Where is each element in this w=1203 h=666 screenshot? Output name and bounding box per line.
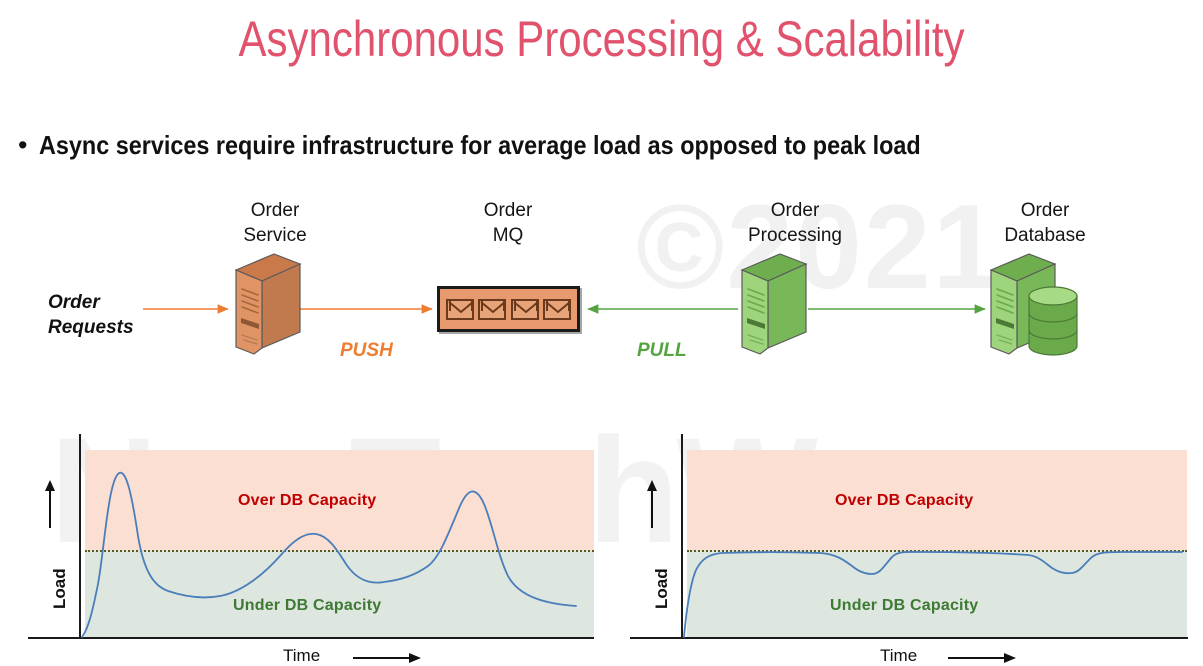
edge-label-pull: PULL (637, 340, 687, 362)
peak-load-chart: Over DB Capacity Under DB Capacity Load … (28, 424, 598, 666)
bullet-text: Async services require infrastructure fo… (39, 128, 921, 162)
bullet-item: • Async services require infrastructure … (18, 128, 1188, 162)
over-capacity-label: Over DB Capacity (835, 492, 973, 510)
database-icon-order-database (983, 246, 1091, 360)
load-curve (630, 424, 1190, 666)
server-tower-icon-order-service (228, 248, 304, 358)
over-capacity-label: Over DB Capacity (238, 492, 376, 510)
x-axis-label: Time (880, 646, 917, 666)
page-title: Asynchronous Processing & Scalability (96, 8, 1107, 70)
y-axis-label: Load (50, 568, 70, 609)
envelope-icon (478, 299, 506, 320)
x-axis-arrow-icon (948, 650, 1018, 666)
bullet-marker: • (18, 128, 27, 162)
edge-label-push: PUSH (340, 340, 393, 362)
architecture-diagram: Order Service Order MQ Order Processing … (0, 190, 1203, 390)
message-queue-icon-order-mq (437, 286, 580, 332)
y-axis-label: Load (652, 568, 672, 609)
x-axis-arrow-icon (353, 650, 423, 666)
smoothed-load-chart: Over DB Capacity Under DB Capacity Load … (630, 424, 1190, 666)
x-axis-label: Time (283, 646, 320, 666)
y-axis-arrow-icon (40, 480, 60, 530)
envelope-icon (446, 299, 474, 320)
under-capacity-label: Under DB Capacity (233, 597, 381, 615)
envelope-icon (511, 299, 539, 320)
envelope-icon (543, 299, 571, 320)
under-capacity-label: Under DB Capacity (830, 597, 978, 615)
server-tower-icon-order-processing (734, 248, 810, 358)
load-curve (28, 424, 598, 666)
y-axis-arrow-icon (642, 480, 662, 530)
slide-canvas: ©2021 NewTechWays Asynchronous Processin… (0, 0, 1203, 666)
